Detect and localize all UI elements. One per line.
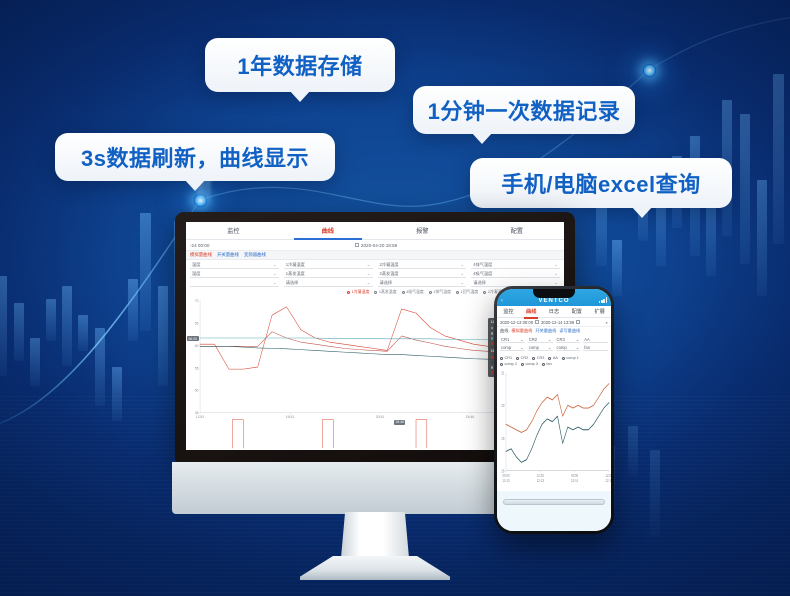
phone-select-grid[interactable]: CR1⌄ CR2⌄ CR3⌄ AA comp⌄ comp⌄ comp⌄ fan bbox=[497, 335, 611, 353]
phone-chart[interactable]: 3130292800:0012-1312:0012-1300:0012-1412… bbox=[497, 368, 611, 491]
phone-select-label: comp bbox=[501, 345, 511, 350]
phone-app-title: VENTCO bbox=[538, 298, 569, 304]
select-label: 湿度 bbox=[192, 271, 200, 277]
tab-config[interactable]: 配置 bbox=[470, 222, 565, 239]
svg-text:31: 31 bbox=[501, 371, 504, 376]
select-field[interactable]: 请选择⌄ bbox=[284, 280, 373, 287]
phone-legend-label: CR3 bbox=[537, 356, 545, 360]
svg-text:50: 50 bbox=[195, 388, 199, 392]
callout-storage-label: 1年数据存储 bbox=[237, 49, 362, 81]
chevron-down-icon: ⌄ bbox=[576, 337, 580, 342]
legend-marker-icon bbox=[562, 357, 565, 360]
date-to-value[interactable]: 2020-04-20 18:59 bbox=[361, 243, 397, 248]
phone-notch bbox=[533, 289, 575, 298]
signal-icon bbox=[599, 297, 607, 303]
tooltip-marker-icon bbox=[491, 361, 494, 364]
chevron-left-icon[interactable]: ‹ bbox=[501, 298, 503, 304]
phone-tab-monitor[interactable]: 监控 bbox=[497, 308, 520, 315]
desktop-select-grid[interactable]: 温度⌄ 1冷凝温度⌄ 2冷凝温度⌄ 4排气温度⌄ 湿度⌄ 1蒸发温度⌄ 2蒸发温… bbox=[186, 260, 564, 288]
svg-text:55: 55 bbox=[195, 366, 199, 370]
phone-legend-label: AA bbox=[553, 356, 558, 360]
legend-marker-icon bbox=[500, 357, 503, 360]
chevron-down-icon: ⌄ bbox=[273, 271, 277, 277]
tooltip-marker-icon bbox=[491, 342, 494, 345]
select-field[interactable]: 4排气温度⌄ bbox=[471, 262, 560, 269]
select-label: 2蒸发温度 bbox=[380, 271, 399, 277]
phone-select-label: CR1 bbox=[501, 337, 509, 342]
phone-select-row[interactable]: CR1⌄ CR2⌄ CR3⌄ AA bbox=[500, 336, 608, 344]
chevron-down-icon: ⌄ bbox=[460, 280, 464, 286]
callout-record: 1分钟一次数据记录 bbox=[413, 86, 635, 134]
legend-marker-icon bbox=[374, 291, 377, 294]
phone-legend-label: comp 3 bbox=[525, 362, 537, 366]
tab-config-label: 配置 bbox=[511, 226, 523, 235]
phone-legend-item[interactable]: CR3 bbox=[532, 356, 544, 360]
svg-text:12:51: 12:51 bbox=[196, 415, 205, 419]
phone-body: ‹ VENTCO 监控 曲线 日志 配置 扩展 2020-12-13 00:00 bbox=[494, 286, 614, 534]
select-row[interactable]: 温度⌄ 1冷凝温度⌄ 2冷凝温度⌄ 4排气温度⌄ bbox=[190, 261, 560, 270]
tab-curve[interactable]: 曲线 bbox=[281, 222, 376, 239]
phone-legend-item[interactable]: CR1 bbox=[500, 356, 512, 360]
legend-marker-icon bbox=[532, 357, 535, 360]
legend-item[interactable]: 1排气温度 bbox=[429, 289, 451, 295]
tooltip-marker-icon bbox=[491, 356, 494, 359]
phone-legend-label: CR1 bbox=[505, 356, 513, 360]
subtab-analog[interactable]: 模拟量曲线 bbox=[190, 252, 212, 258]
phone-legend-label: comp 2 bbox=[505, 362, 517, 366]
chevron-down-icon: ⌄ bbox=[367, 280, 371, 286]
poster-stage: 1年数据存储 1分钟一次数据记录 3s数据刷新，曲线显示 手机/电脑excel查… bbox=[0, 0, 790, 596]
svg-text:12-13: 12-13 bbox=[502, 479, 509, 484]
callout-query: 手机/电脑excel查询 bbox=[470, 158, 732, 208]
phone-chart-svg[interactable]: 3130292800:0012-1312:0012-1300:0012-1412… bbox=[497, 368, 611, 491]
phone-subtab-switch[interactable]: 开关量曲线 bbox=[535, 328, 556, 334]
select-label: 请选择 bbox=[380, 280, 393, 286]
select-field[interactable]: 温度⌄ bbox=[190, 262, 279, 269]
desktop-date-range[interactable]: -24 00:00 2020-04-20 18:59 bbox=[186, 240, 564, 251]
tooltip-marker-icon bbox=[491, 371, 494, 374]
legend-label: 1冷凝温度 bbox=[352, 289, 370, 295]
chevron-down-icon: ⌄ bbox=[273, 280, 277, 286]
phone-legend-label: CR2 bbox=[521, 356, 529, 360]
legend-label: 4吸气温度 bbox=[406, 289, 424, 295]
phone-select-label: CR2 bbox=[529, 337, 537, 342]
chevron-down-icon: ⌄ bbox=[367, 271, 371, 277]
phone-legend-row[interactable]: comp 2 comp 3 fan bbox=[500, 361, 608, 367]
select-field[interactable]: 请选择⌄ bbox=[378, 280, 467, 287]
tooltip-marker-icon bbox=[491, 332, 494, 335]
callout-query-label: 手机/电脑excel查询 bbox=[501, 167, 700, 199]
calendar-icon-2[interactable] bbox=[576, 320, 580, 324]
svg-text:70: 70 bbox=[195, 299, 199, 303]
chart-y-marker: 66.00 bbox=[187, 336, 199, 341]
phone-tab-label: 扩展 bbox=[594, 309, 604, 315]
phone-select-field[interactable]: CR2⌄ bbox=[528, 337, 553, 344]
select-label: 4排气温度 bbox=[473, 262, 492, 268]
search-icon[interactable]: ⌕ bbox=[606, 320, 608, 325]
phone-tab-extend[interactable]: 扩展 bbox=[588, 308, 611, 315]
calendar-icon[interactable] bbox=[535, 320, 539, 324]
phone-select-field[interactable]: comp⌄ bbox=[500, 345, 525, 352]
tooltip-marker-icon bbox=[491, 327, 494, 330]
callout-refresh: 3s数据刷新，曲线显示 bbox=[55, 133, 335, 181]
phone-screen: ‹ VENTCO 监控 曲线 日志 配置 扩展 2020-12-13 00:00 bbox=[497, 289, 611, 531]
legend-marker-icon bbox=[500, 363, 503, 366]
tab-monitor[interactable]: 监控 bbox=[186, 222, 281, 239]
phone-range-slider[interactable] bbox=[497, 491, 611, 513]
tab-monitor-label: 监控 bbox=[227, 226, 239, 235]
date-to-group[interactable]: 2020-04-20 18:59 bbox=[355, 243, 397, 248]
phone-tab-label: 监控 bbox=[503, 309, 513, 315]
subtab-switch[interactable]: 开关量曲线 bbox=[217, 252, 239, 258]
callout-record-label: 1分钟一次数据记录 bbox=[428, 94, 621, 126]
svg-text:20:51: 20:51 bbox=[376, 415, 385, 419]
chevron-down-icon: ⌄ bbox=[520, 337, 524, 342]
legend-marker-icon bbox=[542, 363, 545, 366]
phone-legend-label: comp 1 bbox=[566, 356, 578, 360]
phone-subtab-curve[interactable]: 曲线 bbox=[500, 328, 508, 334]
phone-tab-label: 曲线 bbox=[526, 309, 536, 315]
phone-select-field[interactable]: AA bbox=[583, 337, 608, 344]
phone-legend-item[interactable]: fan bbox=[542, 362, 552, 366]
phone-legend-item[interactable]: CR2 bbox=[516, 356, 528, 360]
phone-bottom-area bbox=[497, 513, 611, 531]
svg-text:12:00: 12:00 bbox=[606, 473, 611, 478]
legend-item[interactable]: 4吸气温度 bbox=[402, 289, 424, 295]
select-field[interactable]: ⌄ bbox=[190, 280, 279, 287]
legend-item[interactable]: 1蒸发温度 bbox=[374, 289, 396, 295]
select-label: 请选择 bbox=[473, 280, 486, 286]
phone-legend-item[interactable]: comp 3 bbox=[521, 362, 538, 366]
phone-date-range[interactable]: 2020-12-13 00:00 2020-12-14 13:59 ⌕ bbox=[497, 318, 611, 327]
tab-curve-label: 曲线 bbox=[322, 226, 334, 235]
legend-marker-icon bbox=[483, 291, 486, 294]
phone-select-field[interactable]: fan bbox=[583, 345, 608, 352]
svg-text:12-13: 12-13 bbox=[537, 479, 544, 484]
phone-select-label: comp bbox=[529, 345, 539, 350]
chevron-down-icon: ⌄ bbox=[576, 345, 580, 350]
tooltip-marker-icon bbox=[491, 337, 494, 340]
legend-item[interactable]: 1冷凝温度 bbox=[347, 289, 369, 295]
legend-item[interactable]: 1回气温度 bbox=[456, 289, 478, 295]
svg-text:16:51: 16:51 bbox=[286, 415, 295, 419]
phone-date-from[interactable]: 2020-12-13 00:00 bbox=[500, 320, 533, 325]
callout-storage: 1年数据存储 bbox=[205, 38, 395, 92]
legend-marker-icon bbox=[548, 357, 551, 360]
select-label: 4吸气温度 bbox=[473, 271, 492, 277]
phone-chart-legend[interactable]: CR1 CR2 CR3 AA comp 1 comp 2 comp 3 fan bbox=[497, 353, 611, 368]
phone-date-to[interactable]: 2020-12-14 13:59 bbox=[541, 320, 574, 325]
select-label: 1蒸发温度 bbox=[286, 271, 305, 277]
chevron-down-icon: ⌄ bbox=[548, 337, 552, 342]
desktop-tabbar[interactable]: 监控 曲线 报警 配置 bbox=[186, 222, 564, 240]
chart-x-marker: 18:46 bbox=[394, 420, 406, 425]
phone-legend-item[interactable]: comp 1 bbox=[562, 356, 579, 360]
phone-select-label: CR3 bbox=[557, 337, 565, 342]
chevron-down-icon: ⌄ bbox=[548, 345, 552, 350]
select-label: 1冷凝温度 bbox=[286, 262, 305, 268]
tab-alarm[interactable]: 报警 bbox=[375, 222, 470, 239]
phone-legend-item[interactable]: AA bbox=[548, 356, 558, 360]
calendar-icon bbox=[355, 243, 359, 247]
date-from-value[interactable]: -24 00:00 bbox=[190, 243, 209, 248]
phone-select-label: fan bbox=[584, 345, 590, 350]
chevron-down-icon: ⌄ bbox=[460, 262, 464, 268]
phone-legend-item[interactable]: comp 2 bbox=[500, 362, 517, 366]
select-label: 请选择 bbox=[286, 280, 299, 286]
chevron-down-icon: ⌄ bbox=[273, 262, 277, 268]
select-field[interactable]: 2蒸发温度⌄ bbox=[378, 271, 467, 278]
select-field[interactable]: 2冷凝温度⌄ bbox=[378, 262, 467, 269]
phone-subtabs[interactable]: 曲线 模拟量曲线 开关量曲线 读写量曲线 bbox=[497, 327, 611, 335]
svg-text:12-14: 12-14 bbox=[605, 479, 611, 484]
phone-select-field[interactable]: CR3⌄ bbox=[556, 337, 581, 344]
svg-text:65: 65 bbox=[195, 321, 199, 325]
phone-tab-log[interactable]: 日志 bbox=[543, 308, 566, 315]
legend-marker-icon bbox=[456, 291, 459, 294]
chevron-down-icon: ⌄ bbox=[554, 271, 558, 277]
svg-text:18:46: 18:46 bbox=[466, 415, 475, 419]
legend-marker-icon bbox=[347, 291, 350, 294]
select-field[interactable]: 4吸气温度⌄ bbox=[471, 271, 560, 278]
chevron-down-icon: ⌄ bbox=[520, 345, 524, 350]
svg-text:29: 29 bbox=[501, 436, 504, 441]
phone-subtab-analog[interactable]: 模拟量曲线 bbox=[511, 328, 532, 334]
subtab-vfd[interactable]: 变频器曲线 bbox=[244, 252, 266, 258]
select-label: 温度 bbox=[192, 262, 200, 268]
select-label: 2冷凝温度 bbox=[380, 262, 399, 268]
tab-alarm-label: 报警 bbox=[416, 226, 428, 235]
svg-text:60: 60 bbox=[195, 344, 199, 348]
svg-text:12:00: 12:00 bbox=[537, 473, 544, 478]
legend-label: 1排气温度 bbox=[433, 289, 451, 295]
monitor-stand-neck bbox=[341, 512, 409, 558]
legend-marker-icon bbox=[521, 363, 524, 366]
svg-text:00:00: 00:00 bbox=[571, 473, 578, 478]
chevron-down-icon: ⌄ bbox=[367, 262, 371, 268]
select-field[interactable]: 1冷凝温度⌄ bbox=[284, 262, 373, 269]
svg-text:12-14: 12-14 bbox=[571, 479, 578, 484]
legend-label: 1蒸发温度 bbox=[379, 289, 397, 295]
select-field[interactable]: 1蒸发温度⌄ bbox=[284, 271, 373, 278]
chevron-down-icon: ⌄ bbox=[554, 262, 558, 268]
phone-select-label: comp bbox=[557, 345, 567, 350]
legend-label: 1回气温度 bbox=[461, 289, 479, 295]
phone-legend-label: fan bbox=[546, 362, 551, 366]
phone-select-row[interactable]: comp⌄ comp⌄ comp⌄ fan bbox=[500, 344, 608, 352]
phone-select-field[interactable]: CR1⌄ bbox=[500, 337, 525, 344]
slider-track[interactable] bbox=[503, 499, 605, 505]
phone-tabbar[interactable]: 监控 曲线 日志 配置 扩展 bbox=[497, 306, 611, 318]
desktop-subtabs[interactable]: 模拟量曲线 开关量曲线 变频器曲线 bbox=[186, 251, 564, 260]
svg-text:00:00: 00:00 bbox=[503, 473, 510, 478]
mobile-phone: ‹ VENTCO 监控 曲线 日志 配置 扩展 2020-12-13 00:00 bbox=[494, 286, 614, 534]
tooltip-marker-icon bbox=[491, 366, 494, 369]
phone-tab-label: 日志 bbox=[549, 309, 559, 315]
chevron-down-icon: ⌄ bbox=[460, 271, 464, 277]
phone-select-label: AA bbox=[584, 337, 590, 342]
callout-refresh-label: 3s数据刷新，曲线显示 bbox=[81, 141, 309, 173]
select-row[interactable]: 湿度⌄ 1蒸发温度⌄ 2蒸发温度⌄ 4吸气温度⌄ bbox=[190, 270, 560, 279]
phone-tab-config[interactable]: 配置 bbox=[565, 308, 588, 315]
legend-marker-icon bbox=[516, 357, 519, 360]
phone-tab-curve[interactable]: 曲线 bbox=[520, 308, 543, 315]
phone-select-field[interactable]: comp⌄ bbox=[528, 345, 553, 352]
legend-marker-icon bbox=[429, 291, 432, 294]
phone-select-field[interactable]: comp⌄ bbox=[556, 345, 581, 352]
phone-subtab-rw[interactable]: 读写量曲线 bbox=[559, 328, 580, 334]
legend-marker-icon bbox=[402, 291, 405, 294]
svg-text:30: 30 bbox=[501, 404, 504, 409]
select-field[interactable]: 湿度⌄ bbox=[190, 271, 279, 278]
phone-tab-label: 配置 bbox=[572, 309, 582, 315]
